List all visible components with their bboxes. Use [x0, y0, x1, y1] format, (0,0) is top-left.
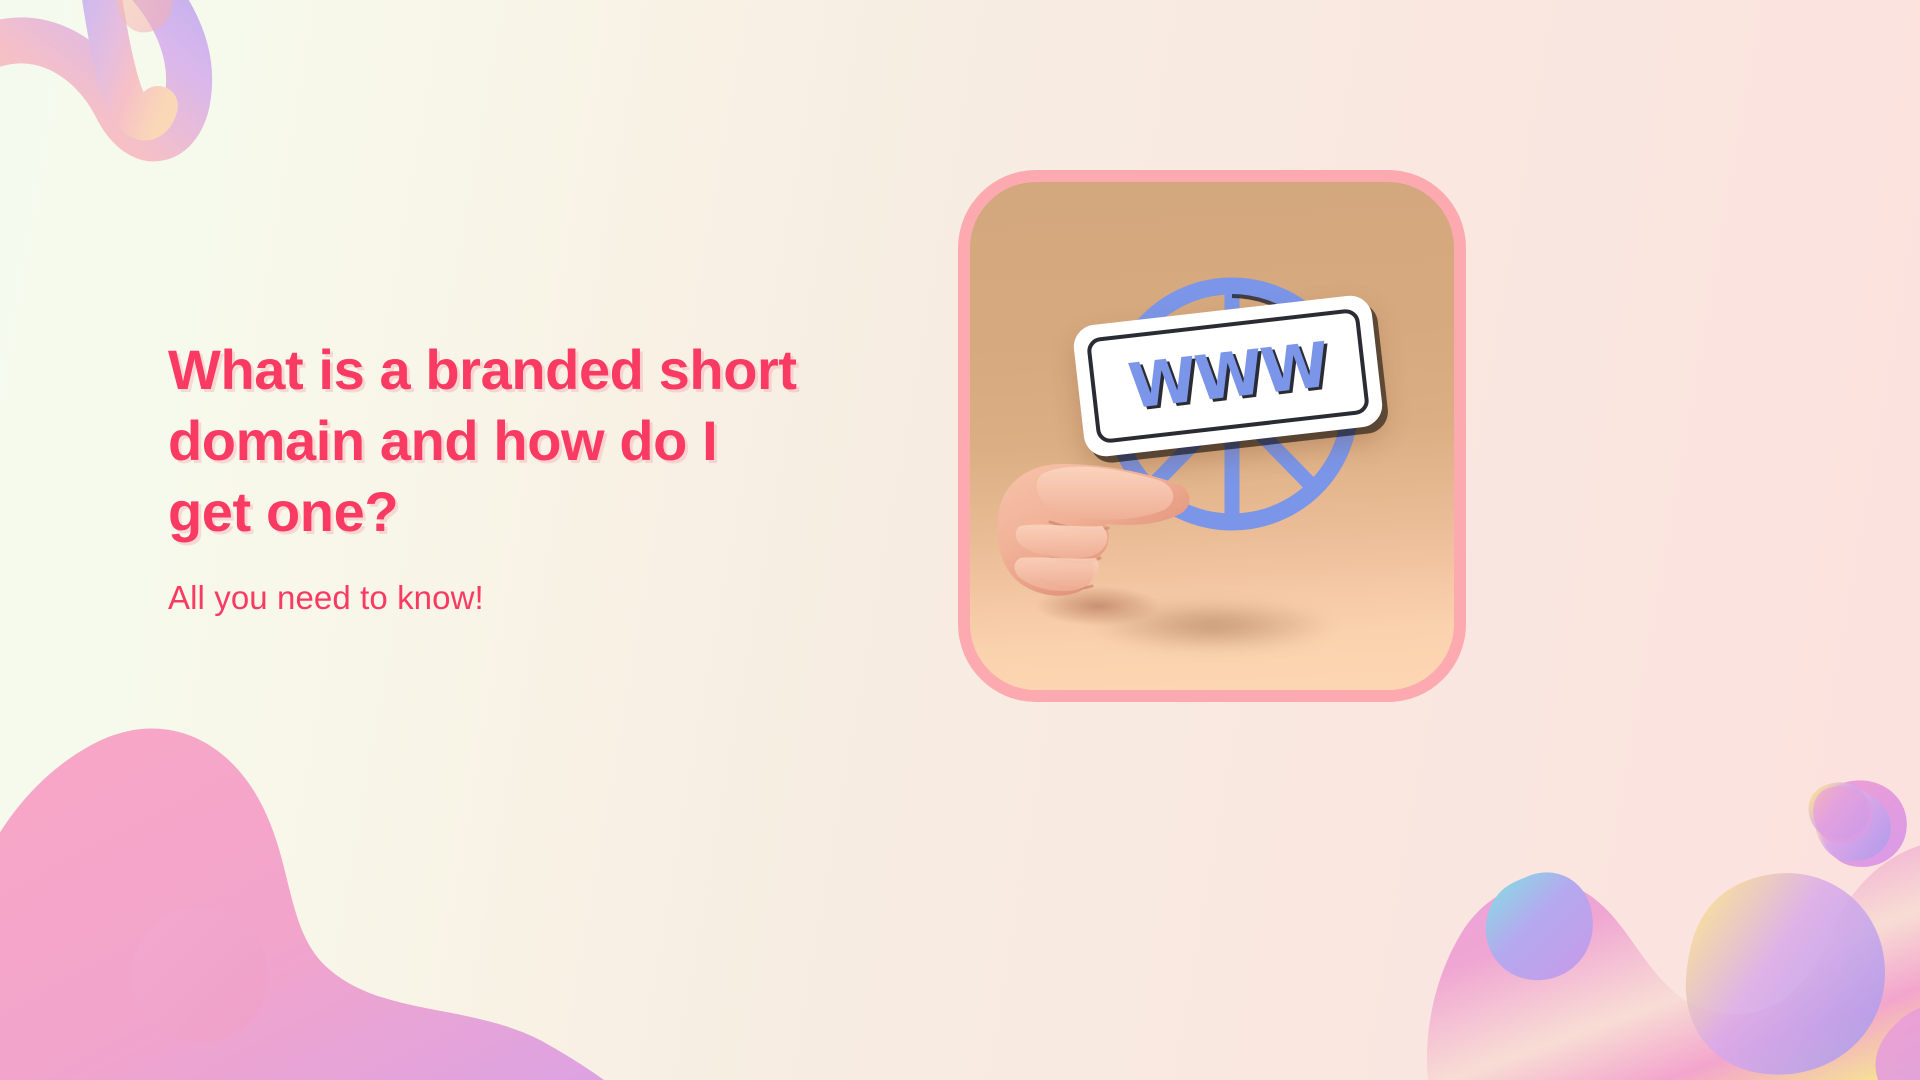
text-column: What is a branded short domain and how d…: [168, 334, 808, 620]
hand-icon: [980, 430, 1200, 630]
illustration-card: WWW: [958, 170, 1466, 702]
illustration-inner: WWW: [970, 182, 1454, 690]
gradient-blob-teal-purple: [1486, 872, 1593, 980]
page-subtitle: All you need to know!: [168, 577, 808, 620]
slide-canvas: What is a branded short domain and how d…: [0, 0, 1920, 1080]
www-sign-inner-border: WWW: [1086, 308, 1370, 444]
page-title: What is a branded short domain and how d…: [168, 334, 808, 547]
pink-blob-bottom-left: [0, 729, 604, 1080]
pink-circle-bottom-left: [132, 907, 268, 1043]
www-sign-label: WWW: [1126, 334, 1331, 418]
